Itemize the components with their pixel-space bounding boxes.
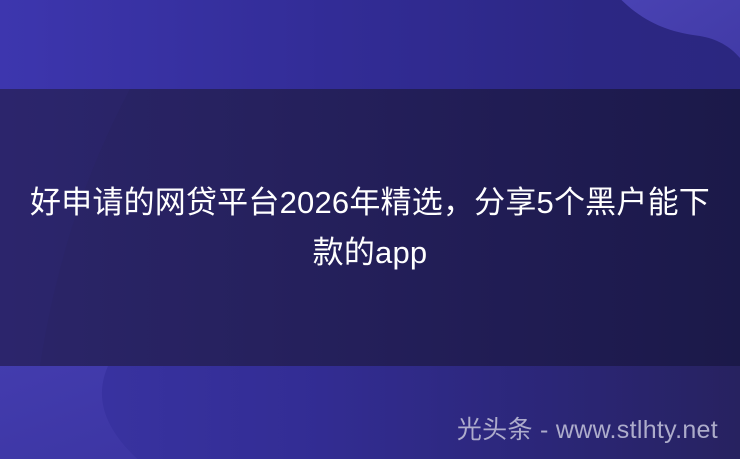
promo-banner: 好申请的网贷平台2026年精选，分享5个黑户能下款的app 光头条 - www.… xyxy=(0,0,740,459)
site-watermark: 光头条 - www.stlhty.net xyxy=(457,418,718,443)
top-band xyxy=(0,0,740,89)
banner-title: 好申请的网贷平台2026年精选，分享5个黑户能下款的app xyxy=(24,178,716,278)
banner-title-block: 好申请的网贷平台2026年精选，分享5个黑户能下款的app xyxy=(0,178,740,278)
bottom-band xyxy=(0,366,740,459)
